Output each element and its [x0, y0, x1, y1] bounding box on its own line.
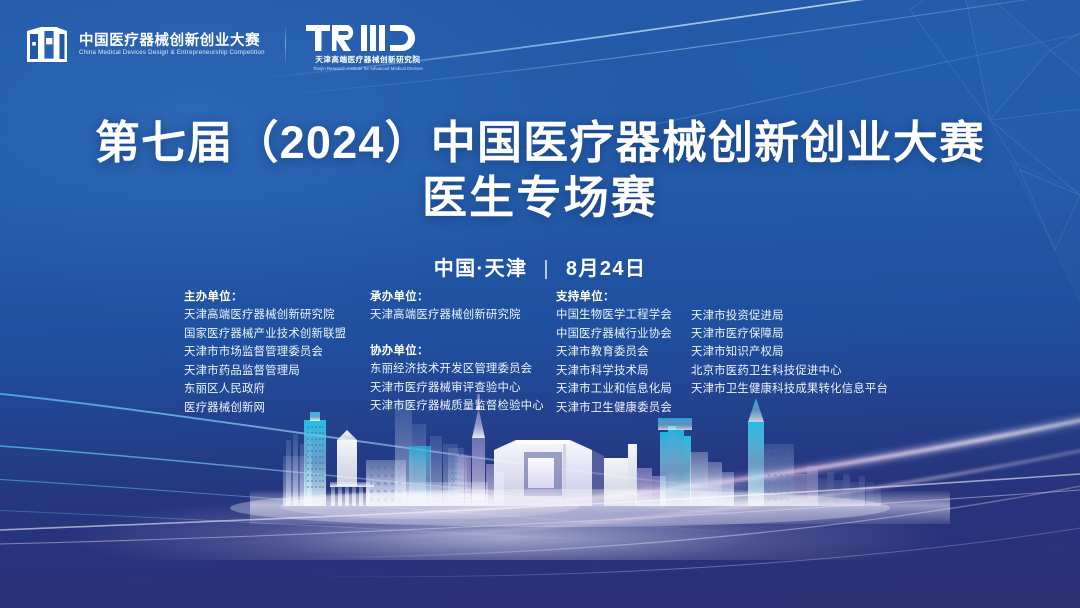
title-block: 第七届（2024）中国医疗器械创新创业大赛 医生专场赛 中国·天津 | 8月24…: [0, 116, 1080, 281]
event-title-line2: 医生专场赛: [0, 169, 1080, 228]
organizer-item: 天津市投资促进局: [691, 307, 896, 325]
organizer-group: 支持单位： 中国生物医学工程学会 中国医疗器械行业协会 天津市教育委员会 天津市…: [556, 288, 691, 417]
organizer-group: 协办单位： 东丽经济技术开发区管理委员会 天津市医疗器械审评查验中心 天津市医疗…: [370, 342, 556, 416]
organizer-item: 天津市药品监督管理局: [184, 362, 370, 380]
subtitle-separator: |: [543, 258, 550, 281]
organizer-group: 主办单位： 天津高端医疗器械创新研究院 国家医疗器械产业技术创新联盟 天津市市场…: [184, 288, 370, 417]
organizer-item: 天津高端医疗器械创新研究院: [184, 306, 370, 324]
organizers-block: 主办单位： 天津高端医疗器械创新研究院 国家医疗器械产业技术创新联盟 天津市市场…: [0, 288, 1080, 417]
logo-divider: [285, 24, 286, 66]
organizer-item: 天津市市场监督管理委员会: [184, 343, 370, 361]
organizers-column-4: 天津市投资促进局 天津市医疗保障局 天津市知识产权局 北京市医药卫生科技促进中心…: [691, 288, 896, 399]
institute-name-cn: 天津高端医疗器械创新研究院: [315, 56, 420, 64]
organizer-item: 天津市科学技术局: [556, 362, 691, 380]
organizer-group: 承办单位： 天津高端医疗器械创新研究院: [370, 288, 556, 325]
organizer-item: 天津市知识产权局: [691, 343, 896, 361]
institute-logo: 天津高端医疗器械创新研究院 Tianjin Research Institute…: [306, 22, 430, 71]
organizer-item: 天津市工业和信息化局: [556, 380, 691, 398]
organizer-item: 天津市教育委员会: [556, 343, 691, 361]
event-title-line1: 第七届（2024）中国医疗器械创新创业大赛: [0, 116, 1080, 169]
organizer-item: 北京市医药卫生科技促进中心: [691, 362, 896, 380]
group-title: 主办单位：: [184, 288, 370, 306]
organizer-item: 医疗器械创新网: [184, 399, 370, 417]
event-date: 8月24日: [566, 258, 646, 280]
organizer-item: 东丽区人民政府: [184, 380, 370, 398]
column-header-spacer: [691, 288, 896, 307]
competition-name-en: China Medical Devices Design & Entrepren…: [79, 50, 265, 56]
organizer-item: 天津市医疗器械审评查验中心: [370, 379, 556, 397]
triid-wordmark-icon: [306, 23, 430, 53]
competition-name-cn: 中国医疗器械创新创业大赛: [79, 34, 265, 49]
group-title: 协办单位：: [370, 342, 556, 360]
organizer-item: 东丽经济技术开发区管理委员会: [370, 360, 556, 378]
organizer-group: 天津市投资促进局 天津市医疗保障局 天津市知识产权局 北京市医药卫生科技促进中心…: [691, 288, 896, 399]
organizer-item: 国家医疗器械产业技术创新联盟: [184, 325, 370, 343]
organizer-item: 天津市医疗器械质量监督检验中心: [370, 397, 556, 415]
organizer-item: 中国生物医学工程学会: [556, 306, 691, 324]
organizers-column-1: 主办单位： 天津高端医疗器械创新研究院 国家医疗器械产业技术创新联盟 天津市市场…: [184, 288, 370, 417]
group-title: 承办单位：: [370, 288, 556, 306]
organizers-column-2: 承办单位： 天津高端医疗器械创新研究院 协办单位： 东丽经济技术开发区管理委员会…: [370, 288, 556, 416]
header-logos: 中国医疗器械创新创业大赛 China Medical Devices Desig…: [24, 22, 430, 71]
event-location: 中国·天津: [434, 258, 528, 280]
event-location-date: 中国·天津 | 8月24日: [0, 252, 1080, 281]
group-title: 支持单位：: [556, 288, 691, 306]
organizer-item: 天津市卫生健康科技成果转化信息平台: [691, 380, 896, 398]
organizer-item: 天津市医疗保障局: [691, 325, 896, 343]
organizer-item: 天津市卫生健康委员会: [556, 399, 691, 417]
organizer-item: 中国医疗器械行业协会: [556, 325, 691, 343]
competition-logo: 中国医疗器械创新创业大赛 China Medical Devices Desig…: [24, 22, 265, 68]
institute-name-en: Tianjin Research Institute for Advanced …: [313, 67, 423, 71]
event-poster: 中国医疗器械创新创业大赛 China Medical Devices Desig…: [0, 0, 1080, 608]
organizer-item: 天津高端医疗器械创新研究院: [370, 306, 556, 324]
organizers-column-3: 支持单位： 中国生物医学工程学会 中国医疗器械行业协会 天津市教育委员会 天津市…: [556, 288, 691, 417]
open-door-logo-icon: [24, 22, 70, 68]
